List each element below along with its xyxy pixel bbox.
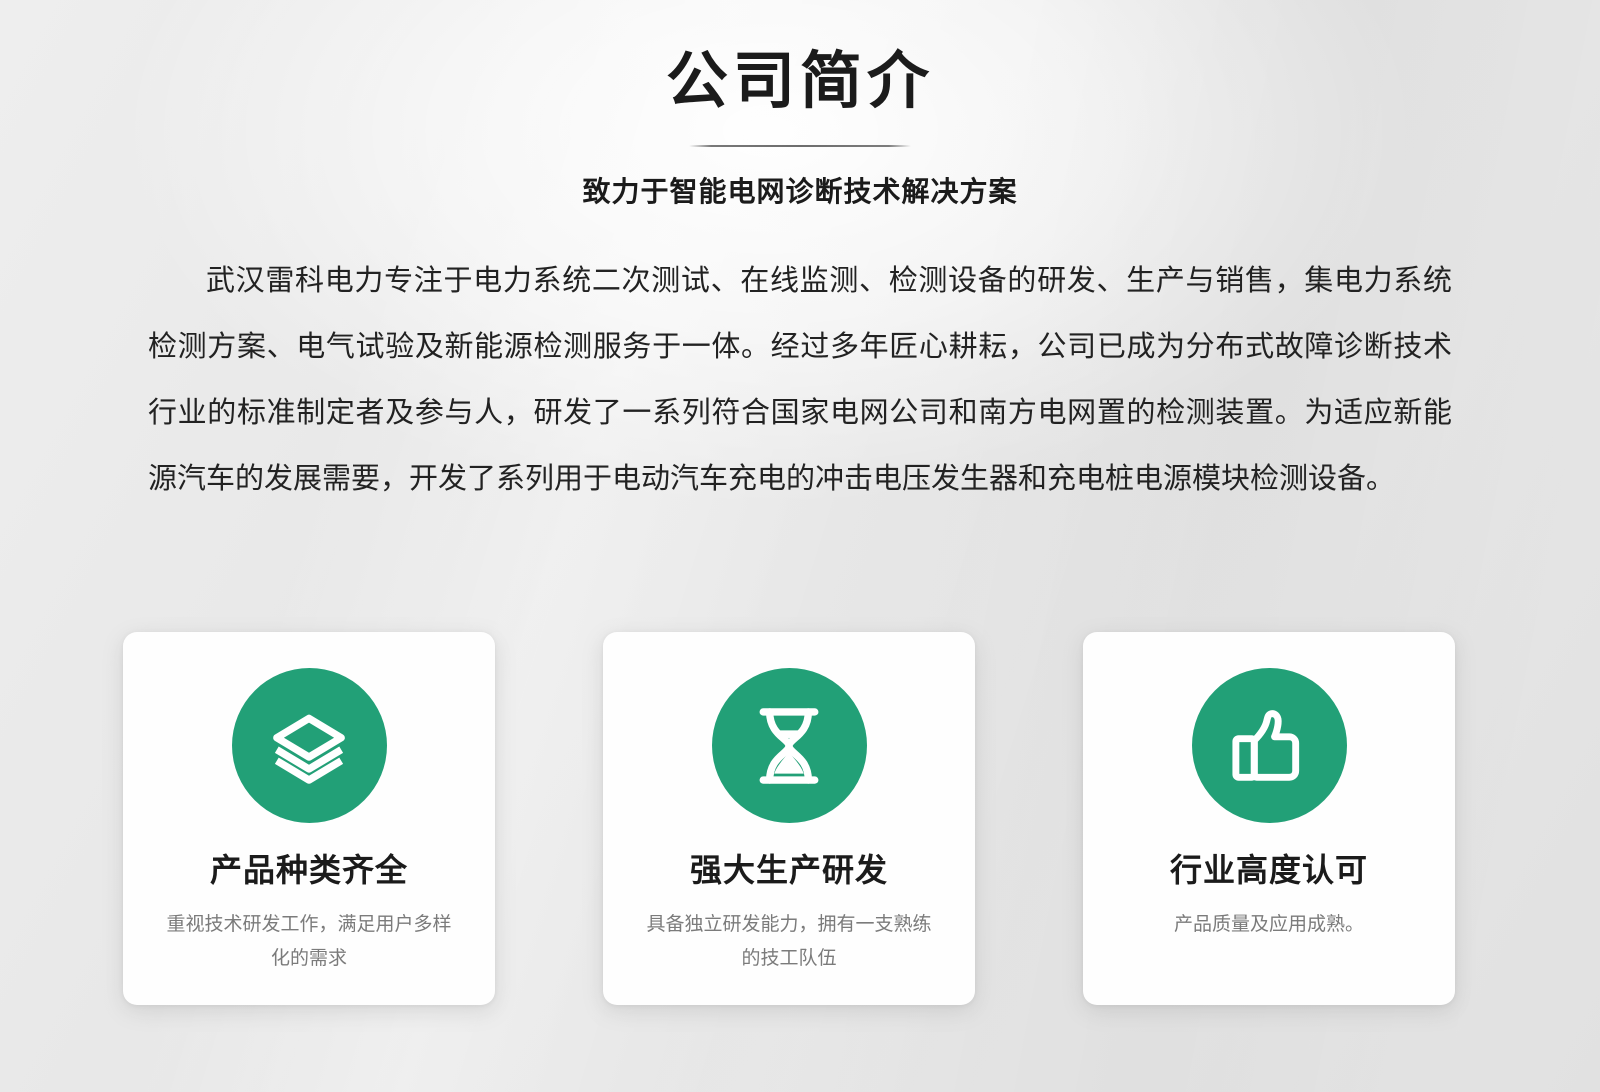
icon-badge (712, 668, 867, 823)
feature-card-list: 产品种类齐全 重视技术研发工作，满足用户多样化的需求 (123, 632, 1455, 1005)
title-divider (689, 145, 911, 147)
card-description: 具备独立研发能力，拥有一支熟练的技工队伍 (639, 907, 939, 975)
intro-paragraph: 武汉雷科电力专注于电力系统二次测试、在线监测、检测设备的研发、生产与销售，集电力… (148, 247, 1452, 511)
card-title: 强大生产研发 (690, 851, 888, 889)
card-title: 产品种类齐全 (210, 851, 408, 889)
card-description: 重视技术研发工作，满足用户多样化的需求 (159, 907, 459, 975)
company-profile-page: 公司简介 致力于智能电网诊断技术解决方案 武汉雷科电力专注于电力系统二次测试、在… (0, 0, 1600, 1092)
hourglass-icon (743, 700, 835, 792)
icon-badge (232, 668, 387, 823)
feature-card-products[interactable]: 产品种类齐全 重视技术研发工作，满足用户多样化的需求 (123, 632, 495, 1005)
page-subtitle: 致力于智能电网诊断技术解决方案 (0, 175, 1600, 209)
page-title: 公司简介 (0, 46, 1600, 115)
icon-badge (1192, 668, 1347, 823)
feature-card-recognition[interactable]: 行业高度认可 产品质量及应用成熟。 (1083, 632, 1455, 1005)
card-title: 行业高度认可 (1170, 851, 1368, 889)
feature-card-rnd[interactable]: 强大生产研发 具备独立研发能力，拥有一支熟练的技工队伍 (603, 632, 975, 1005)
page-header: 公司简介 致力于智能电网诊断技术解决方案 (0, 0, 1600, 209)
thumbs-up-icon (1223, 700, 1315, 792)
intro-section: 武汉雷科电力专注于电力系统二次测试、在线监测、检测设备的研发、生产与销售，集电力… (148, 247, 1452, 511)
card-description: 产品质量及应用成熟。 (1119, 907, 1419, 941)
layers-icon (263, 700, 355, 792)
